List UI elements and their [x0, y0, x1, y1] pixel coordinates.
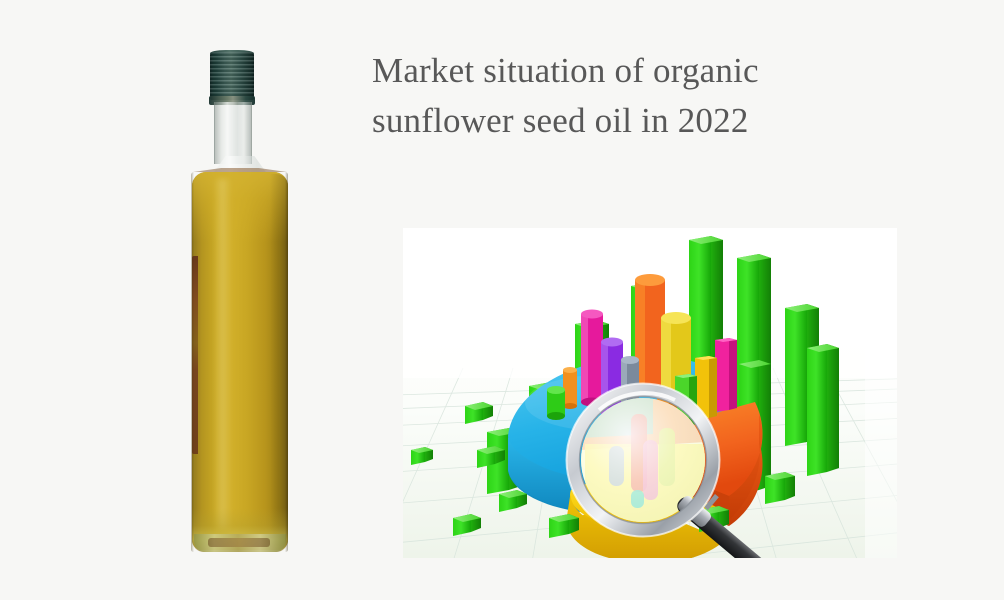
- headline-block: Market situation of organic sunflower se…: [372, 46, 932, 145]
- product-photo-sunflower-oil-bottle: [178, 44, 302, 556]
- bottle-base-shadow: [208, 538, 270, 547]
- bottle-neck: [214, 102, 252, 164]
- bottle-glass-edge-right: [285, 172, 288, 552]
- photo-backdrop: [178, 44, 302, 556]
- cylinder-magenta: [581, 310, 603, 407]
- chart-illustration-svg: [403, 228, 897, 558]
- cylinder-orange-small: [563, 367, 577, 409]
- bottle-highlight: [214, 179, 231, 529]
- cylinder-green-small: [547, 386, 565, 420]
- cylinder-orange: [635, 274, 665, 396]
- page-title: Market situation of organic sunflower se…: [372, 46, 932, 145]
- bar-magenta-small: [715, 338, 737, 412]
- chart-illustration: [403, 228, 897, 558]
- bar-green-8: [807, 344, 839, 476]
- page-root: Market situation of organic sunflower se…: [0, 0, 1004, 600]
- bottle-cap: [210, 52, 254, 100]
- bottle-glass-edge-left: [191, 172, 194, 552]
